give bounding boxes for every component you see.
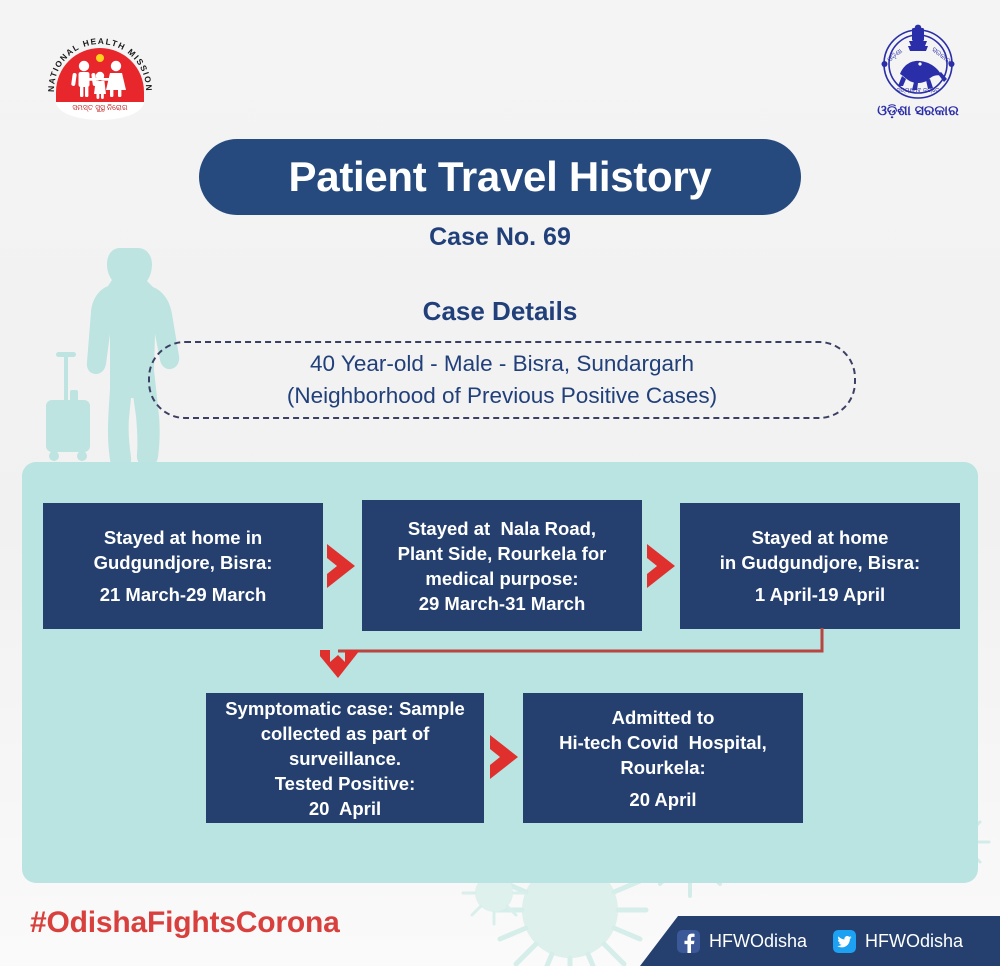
social-footer-bar: HFWOdisha HFWOdisha bbox=[640, 916, 1000, 966]
connector-down-arrow-icon bbox=[320, 628, 830, 698]
case-details-box: 40 Year-old - Male - Bisra, Sundargarh (… bbox=[148, 341, 856, 419]
step-4-line-1: Symptomatic case: Sample bbox=[225, 696, 465, 721]
step-2-line-1: Stayed at Nala Road, bbox=[408, 516, 596, 541]
facebook-icon bbox=[677, 930, 700, 953]
timeline-step-4: Symptomatic case: Sample collected as pa… bbox=[206, 693, 484, 823]
step-1-date: 21 March-29 March bbox=[100, 582, 267, 607]
step-5-date: 20 April bbox=[629, 787, 696, 812]
step-3-line-2: in Gudgundjore, Bisra: bbox=[720, 550, 920, 575]
step-4-date: 20 April bbox=[309, 796, 381, 821]
step-2-date: 29 March-31 March bbox=[419, 591, 586, 616]
case-details-heading: Case Details bbox=[0, 296, 1000, 327]
page-title: Patient Travel History bbox=[289, 153, 712, 201]
chevron-right-arrow-icon bbox=[644, 542, 678, 590]
step-5-line-1: Admitted to bbox=[612, 705, 715, 730]
step-2-line-2: Plant Side, Rourkela for bbox=[398, 541, 607, 566]
svg-text:ଓଡ଼ିଶା: ଓଡ଼ିଶା bbox=[886, 47, 904, 64]
step-4-line-2: collected as part of bbox=[261, 721, 430, 746]
national-health-mission-logo: NATIONAL HEALTH MISSION ସମସ୍ତ ସୁସ୍ଥ ନିରୋ… bbox=[40, 28, 160, 120]
facebook-handle: HFWOdisha bbox=[709, 931, 807, 952]
step-3-date: 1 April-19 April bbox=[755, 582, 885, 607]
timeline-step-3: Stayed at home in Gudgundjore, Bisra: 1 … bbox=[680, 503, 960, 629]
hashtag-odisha-fights-corona: #OdishaFightsCorona bbox=[30, 906, 340, 940]
step-4-line-4: Tested Positive: bbox=[275, 771, 416, 796]
svg-text:ସମସ୍ତ ସୁସ୍ଥ ନିରୋଗ: ସମସ୍ତ ସୁସ୍ଥ ନିରୋଗ bbox=[72, 103, 127, 113]
step-5-line-3: Rourkela: bbox=[620, 755, 705, 780]
svg-text:ଓଡ଼ିଶା ସରକାର: ଓଡ଼ିଶା ସରକାର bbox=[877, 102, 959, 119]
twitter-handle: HFWOdisha bbox=[865, 931, 963, 952]
step-2-line-3: medical purpose: bbox=[425, 566, 578, 591]
twitter-link[interactable]: HFWOdisha bbox=[833, 930, 963, 953]
case-details-line-1: 40 Year-old - Male - Bisra, Sundargarh bbox=[310, 349, 694, 379]
facebook-link[interactable]: HFWOdisha bbox=[677, 930, 807, 953]
chevron-right-arrow-icon bbox=[324, 542, 358, 590]
odisha-government-emblem: ସତ୍ୟମେବ ଜୟତେ ଓଡ଼ିଶା ସରକାର ଓଡ଼ିଶା ସରକାର bbox=[862, 24, 974, 120]
step-3-line-1: Stayed at home bbox=[752, 525, 889, 550]
step-5-line-2: Hi-tech Covid Hospital, bbox=[559, 730, 767, 755]
page-title-pill: Patient Travel History bbox=[199, 139, 801, 215]
case-number: Case No. 69 bbox=[0, 223, 1000, 252]
step-1-line-2: Gudgundjore, Bisra: bbox=[94, 550, 273, 575]
timeline-step-2: Stayed at Nala Road, Plant Side, Rourkel… bbox=[362, 500, 642, 631]
timeline-step-5: Admitted to Hi-tech Covid Hospital, Rour… bbox=[523, 693, 803, 823]
twitter-icon bbox=[833, 930, 856, 953]
step-1-line-1: Stayed at home in bbox=[104, 525, 262, 550]
infographic-page: NATIONAL HEALTH MISSION ସମସ୍ତ ସୁସ୍ଥ ନିରୋ… bbox=[0, 0, 1000, 966]
svg-text:ସତ୍ୟମେବ ଜୟତେ: ସତ୍ୟମେବ ଜୟତେ bbox=[897, 88, 940, 94]
chevron-right-arrow-icon bbox=[487, 733, 521, 781]
timeline-step-1: Stayed at home in Gudgundjore, Bisra: 21… bbox=[43, 503, 323, 629]
step-4-line-3: surveillance. bbox=[289, 746, 401, 771]
case-details-line-2: (Neighborhood of Previous Positive Cases… bbox=[287, 381, 717, 411]
